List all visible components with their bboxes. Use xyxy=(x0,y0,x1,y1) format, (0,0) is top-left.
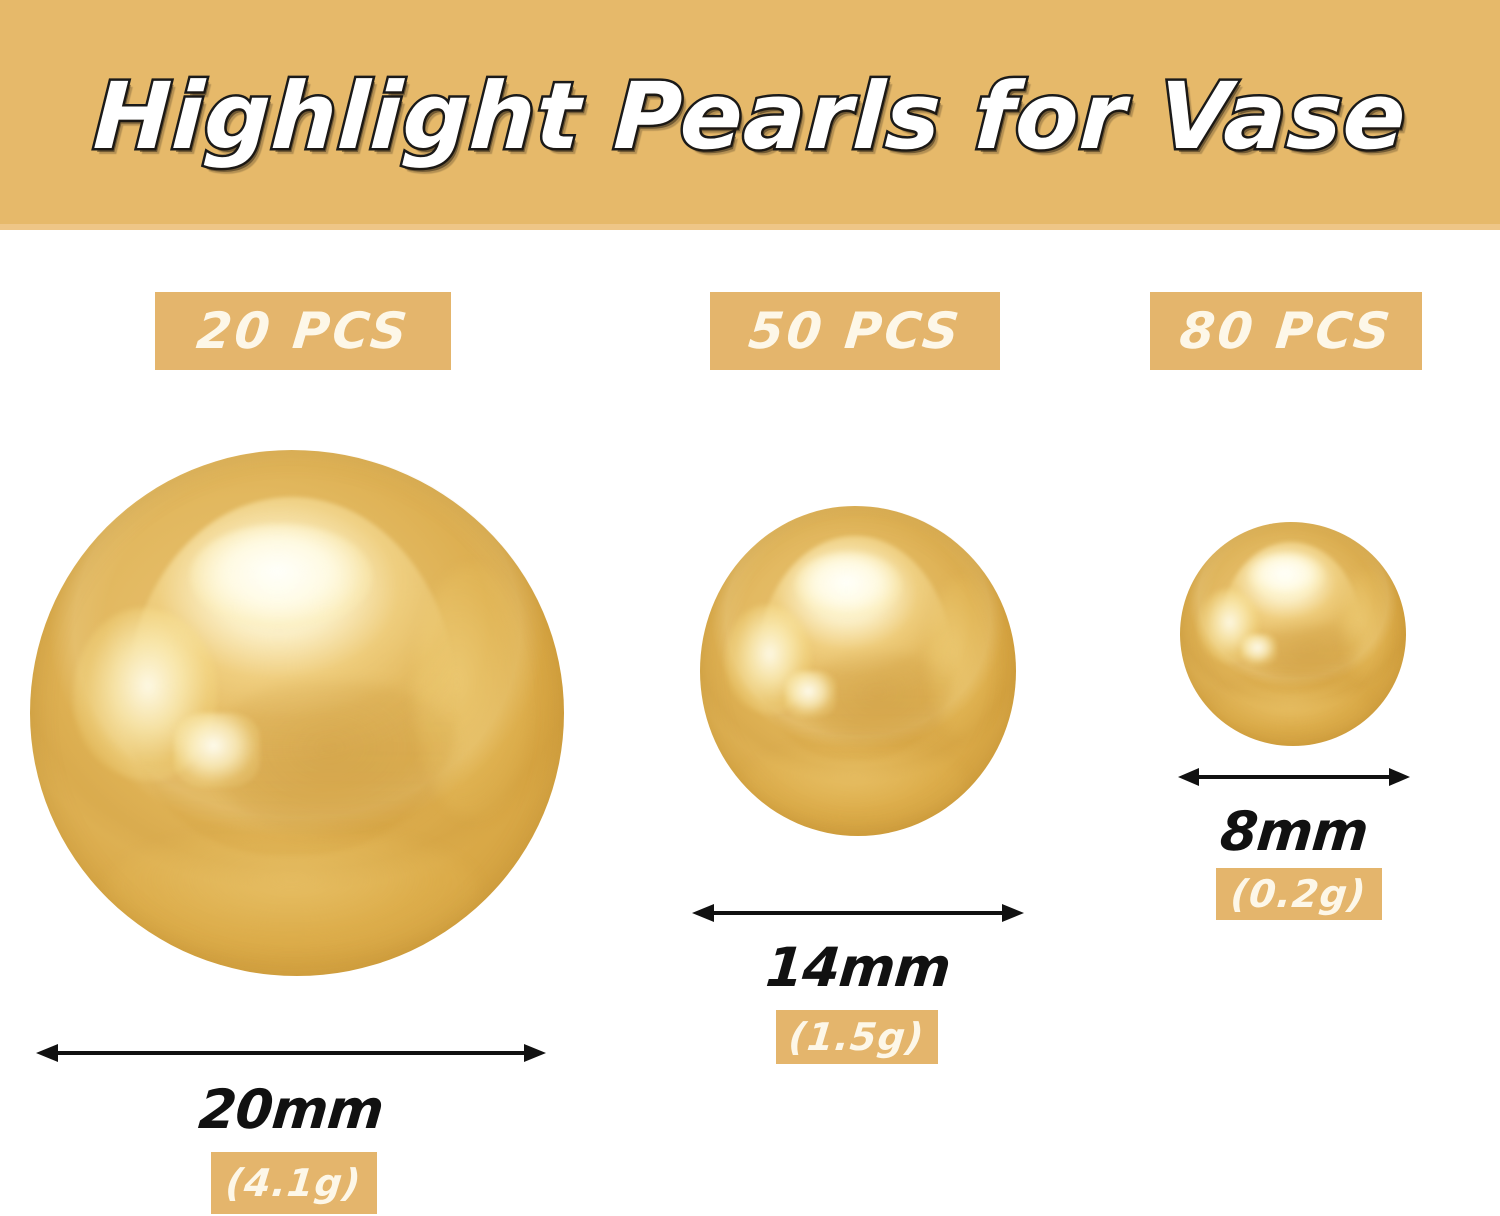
pearl-small-specular-highlight xyxy=(1248,553,1325,598)
pcs-badge-80-label: 80 PCS xyxy=(1177,302,1396,360)
size-label-14mm: 14mm xyxy=(689,936,1027,999)
weight-badge-medium-label: (1.5g) xyxy=(787,1015,927,1059)
pcs-badge-50: 50 PCS xyxy=(710,292,1000,370)
pcs-badge-50-label: 50 PCS xyxy=(746,302,965,360)
pearl-large-body xyxy=(30,450,564,976)
weight-badge-small-label: (0.2g) xyxy=(1229,872,1369,916)
pcs-badge-20-label: 20 PCS xyxy=(194,302,413,360)
header-banner: Highlight Pearls for Vase xyxy=(0,0,1500,224)
pearl-small-body xyxy=(1180,522,1406,746)
size-label-8mm: 8mm xyxy=(1175,800,1413,863)
pearl-large-specular-highlight xyxy=(190,524,372,629)
gold-pearl-large-image xyxy=(30,450,564,976)
weight-badge-small: (0.2g) xyxy=(1216,868,1382,920)
pearl-large-small-highlight xyxy=(174,713,259,787)
pcs-badge-80: 80 PCS xyxy=(1150,292,1422,370)
pearl-medium-specular-highlight xyxy=(795,552,902,618)
pearl-medium-small-highlight xyxy=(785,671,836,717)
dimension-arrow-8mm xyxy=(1178,766,1410,788)
weight-badge-large: (4.1g) xyxy=(211,1152,377,1214)
dimension-arrow-14mm xyxy=(692,902,1024,924)
gold-pearl-medium-image xyxy=(700,506,1016,836)
pearl-small-small-highlight xyxy=(1241,634,1277,665)
gold-pearl-small-image xyxy=(1180,522,1406,746)
product-infographic: Highlight Pearls for Vase 20 PCS 50 PCS … xyxy=(0,0,1500,1216)
banner-underline-divider xyxy=(0,224,1500,230)
pearl-medium-body xyxy=(700,506,1016,836)
page-title: Highlight Pearls for Vase xyxy=(91,63,1409,170)
dimension-arrow-20mm xyxy=(36,1042,546,1064)
pcs-badge-20: 20 PCS xyxy=(155,292,451,370)
size-label-20mm: 20mm xyxy=(33,1078,549,1141)
weight-badge-medium: (1.5g) xyxy=(776,1010,938,1064)
weight-badge-large-label: (4.1g) xyxy=(224,1161,364,1205)
